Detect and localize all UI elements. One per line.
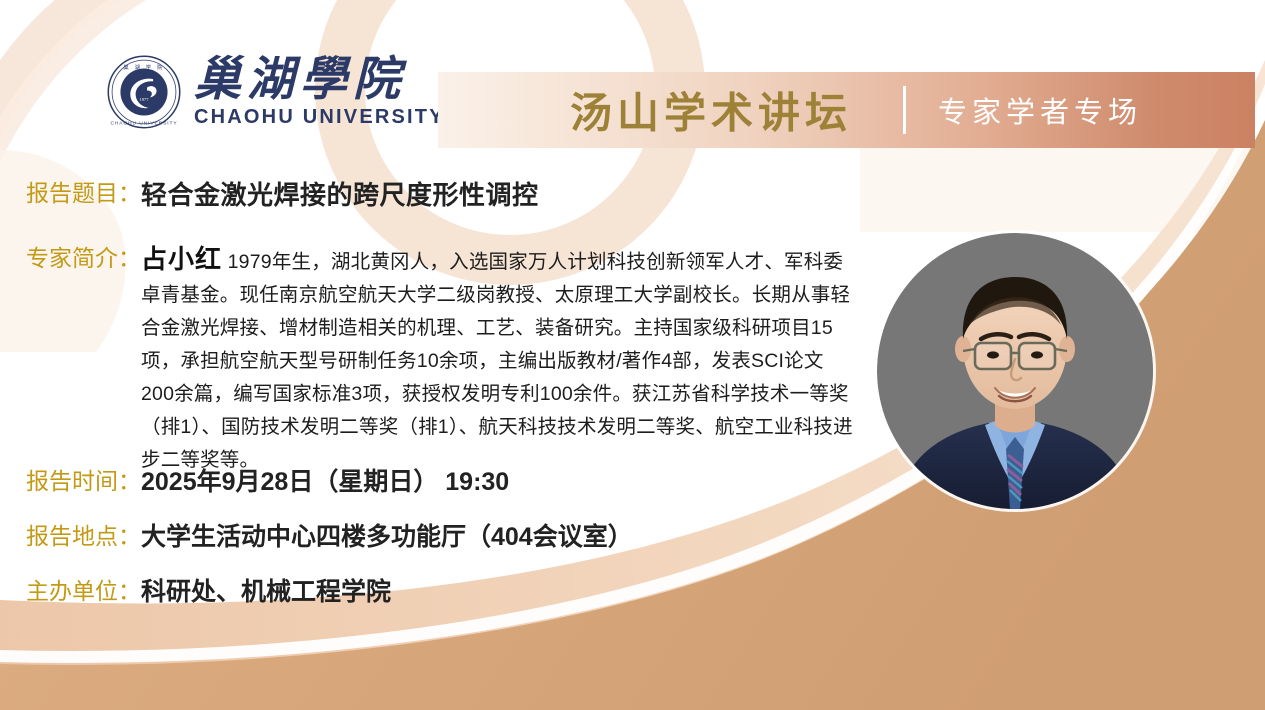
title-label: 报告题目： — [26, 178, 141, 209]
field-title: 报告题目： 轻合金激光焊接的跨尺度形性调控 — [26, 178, 539, 213]
field-host: 主办单位： 科研处、机械工程学院 — [26, 576, 391, 610]
field-bio: 专家简介： 占小红 1979年生，湖北黄冈人，入选国家万人计划科技创新领军人才、… — [26, 239, 886, 477]
bio-speaker-name: 占小红 — [141, 244, 222, 274]
field-time: 报告时间： 2025年9月28日（星期日） 19:30 — [26, 466, 509, 500]
bio-body: 占小红 1979年生，湖北黄冈人，入选国家万人计划科技创新领军人才、军科委卓青基… — [141, 239, 853, 477]
time-value: 2025年9月28日（星期日） 19:30 — [141, 466, 509, 500]
bio-label: 专家简介： — [26, 239, 141, 274]
speaker-portrait-image — [877, 233, 1153, 509]
title-value: 轻合金激光焊接的跨尺度形性调控 — [141, 178, 539, 213]
speaker-portrait — [877, 233, 1153, 509]
bio-paragraph: 1979年生，湖北黄冈人，入选国家万人计划科技创新领军人才、军科委卓青基金。现任… — [141, 251, 853, 471]
host-label: 主办单位： — [26, 576, 141, 607]
time-label: 报告时间： — [26, 466, 141, 497]
poster-root: 1977 巢 湖 学 院 CHAOHU UNIVERSITY 巢湖學院 CHAO… — [0, 0, 1265, 710]
place-value: 大学生活动中心四楼多功能厅（404会议室） — [141, 521, 633, 555]
host-value: 科研处、机械工程学院 — [141, 576, 391, 610]
place-label: 报告地点： — [26, 521, 141, 552]
field-place: 报告地点： 大学生活动中心四楼多功能厅（404会议室） — [26, 521, 633, 555]
